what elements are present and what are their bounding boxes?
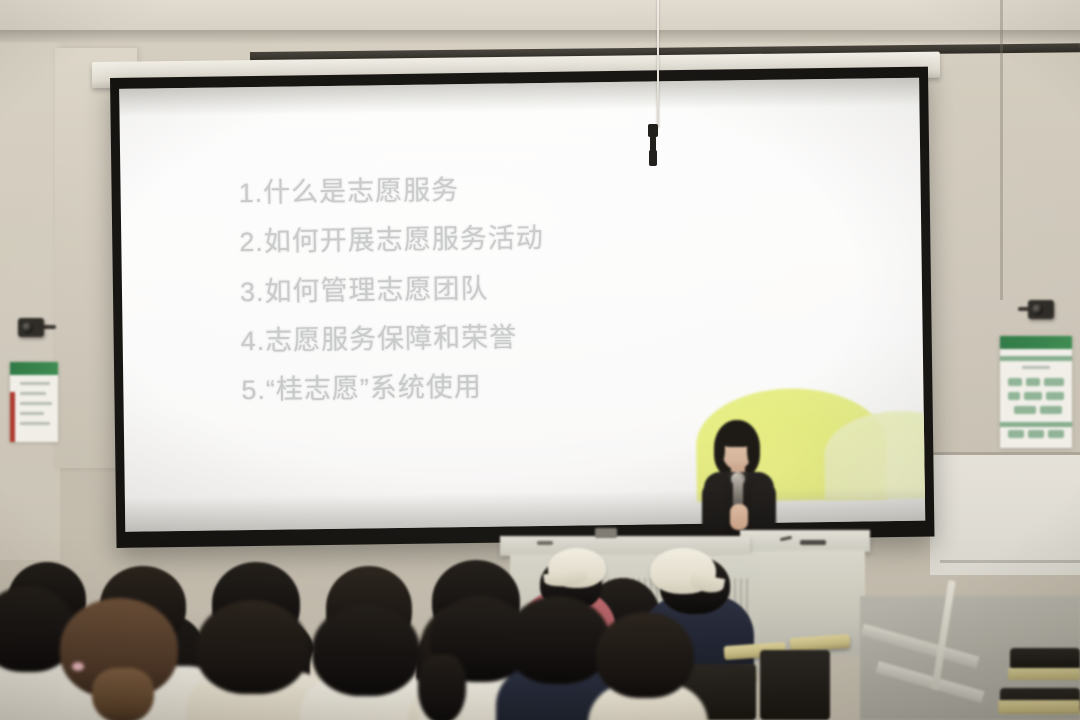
hair-tie	[72, 662, 84, 671]
left-wall-panel	[0, 0, 60, 560]
slide-agenda-item: 2.如何开展志愿服务活动	[239, 220, 839, 257]
slide-agenda-item: 4.志愿服务保障和荣誉	[240, 319, 840, 356]
audience-head	[196, 600, 308, 694]
projection-screen-surface: 1.什么是志愿服务 2.如何开展志愿服务活动 3.如何管理志愿团队 4.志愿服务…	[119, 78, 925, 532]
audience-ponytail	[92, 668, 154, 720]
wall-poster-left	[10, 362, 58, 442]
audience-ponytail	[418, 654, 466, 720]
slide-agenda-item: 1.什么是志愿服务	[238, 171, 838, 208]
lectern-remote[interactable]	[800, 540, 826, 545]
presenter-hair-side	[716, 434, 725, 464]
ceiling-shadow	[0, 30, 1080, 44]
lecture-hall-photo: 1.什么是志愿服务 2.如何开展志愿服务活动 3.如何管理志愿团队 4.志愿服务…	[0, 0, 1080, 720]
console-cable	[537, 541, 553, 545]
presenter-hair-side	[747, 434, 757, 466]
seat-desk	[998, 700, 1080, 714]
audience-head	[312, 604, 420, 696]
screen-bottom-shading	[125, 487, 925, 532]
seat-back	[1010, 648, 1080, 670]
wall-poster-right	[1000, 336, 1072, 448]
console-device[interactable]	[595, 528, 617, 538]
seat-desk	[1008, 668, 1080, 680]
teaching-console-top	[500, 536, 750, 556]
screen-top-shading	[119, 78, 919, 117]
screen-pull-cord[interactable]	[657, 0, 659, 128]
slide-agenda-item: 3.如何管理志愿团队	[240, 270, 840, 307]
audience-head	[596, 612, 694, 698]
right-wall-lower	[930, 455, 1080, 575]
slide-agenda-list: 1.什么是志愿服务 2.如何开展志愿服务活动 3.如何管理志愿团队 4.志愿服务…	[238, 171, 841, 405]
wall-seam	[940, 560, 1080, 563]
projection-screen-frame: 1.什么是志愿服务 2.如何开展志愿服务活动 3.如何管理志愿团队 4.志愿服务…	[110, 67, 934, 548]
wall-corner-seam	[1000, 0, 1003, 300]
pull-cord-clip-icon[interactable]	[645, 124, 660, 166]
wall-seam	[930, 452, 1080, 455]
audience-head	[506, 596, 610, 684]
seat-back	[760, 650, 830, 720]
presenter-hands	[730, 504, 748, 530]
